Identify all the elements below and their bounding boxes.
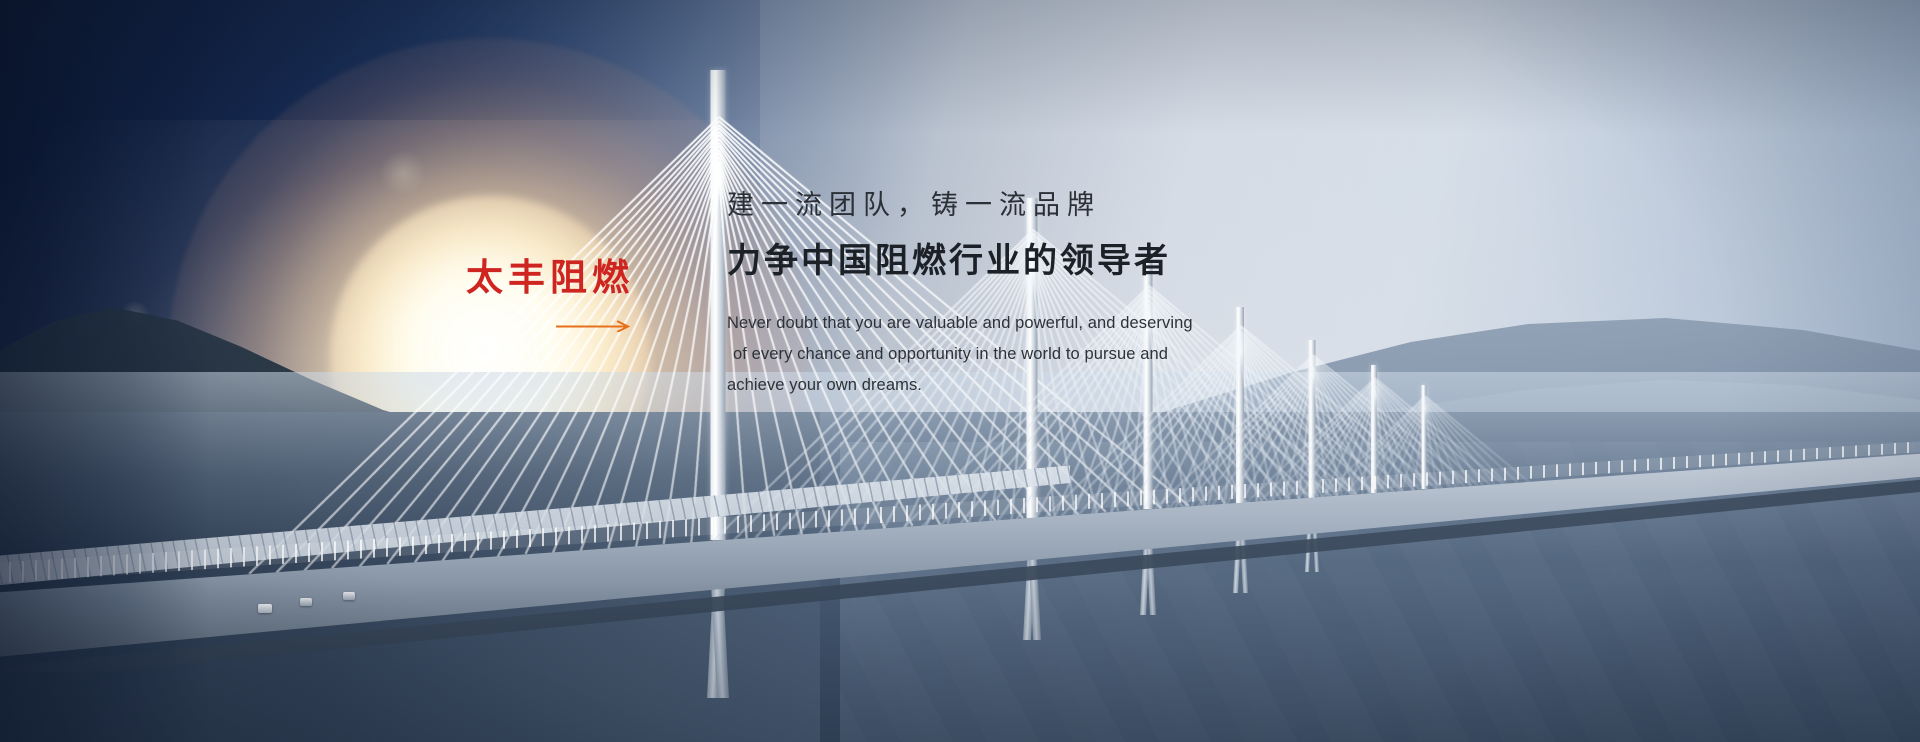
headline-title: 力争中国阻燃行业的领导者 <box>727 241 1347 282</box>
banner-content: 太丰阻燃 建一流团队，铸一流品牌 力争中国阻燃行业的领导者 Never doub… <box>0 0 1920 742</box>
hero-banner: 太丰阻燃 建一流团队，铸一流品牌 力争中国阻燃行业的领导者 Never doub… <box>0 0 1920 742</box>
brand-logo[interactable]: 太丰阻燃 <box>466 259 656 332</box>
brand-logo-text: 太丰阻燃 <box>466 259 656 296</box>
description-line-1: Never doubt that you are valuable and po… <box>727 308 1293 339</box>
headline-block: 建一流团队，铸一流品牌 力争中国阻燃行业的领导者 Never doubt tha… <box>727 190 1347 400</box>
headline-description: Never doubt that you are valuable and po… <box>727 308 1293 400</box>
description-line-2: of every chance and opportunity in the w… <box>727 339 1293 370</box>
arrow-right-icon <box>556 320 634 332</box>
headline-subtitle: 建一流团队，铸一流品牌 <box>727 190 1347 222</box>
description-line-3: achieve your own dreams. <box>727 370 1293 401</box>
